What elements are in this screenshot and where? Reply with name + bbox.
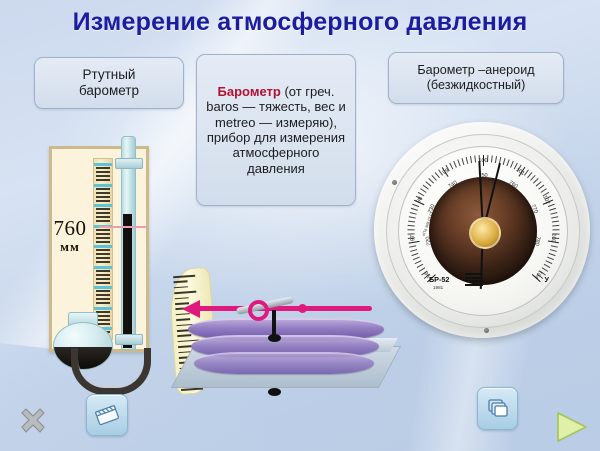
dial-tick	[551, 216, 558, 218]
dial-tick	[545, 260, 552, 264]
arc-scale-tick	[174, 281, 188, 284]
film-clapper-icon	[87, 395, 127, 435]
copy-windows-icon	[478, 388, 517, 429]
u-bend-tube	[71, 348, 151, 395]
scale-tick	[96, 208, 110, 210]
scale-tick	[96, 302, 110, 304]
aneroid-grade-mark: У	[545, 275, 549, 284]
next-slide-button[interactable]	[552, 409, 592, 445]
dial-tick	[410, 249, 417, 252]
aneroid-capsule	[188, 318, 384, 374]
dial-hub	[469, 217, 501, 249]
dial-tick	[457, 159, 460, 166]
dial-tick	[548, 253, 555, 256]
arc-scale-tick	[174, 286, 188, 289]
aneroid-mechanism-diagram	[172, 262, 404, 412]
dial-tick	[414, 260, 421, 264]
page-title: Измерение атмосферного давления	[0, 8, 600, 37]
arc-scale-tick	[173, 275, 195, 278]
dial-tick	[506, 159, 509, 166]
mechanism-pivot-right	[298, 304, 307, 313]
label-mercury-line2: барометр	[79, 83, 139, 99]
scale-tick	[96, 192, 110, 194]
dial-tick	[510, 161, 514, 168]
scale-tick	[96, 278, 110, 280]
scale-tick	[96, 290, 110, 292]
arc-scale-tick	[175, 297, 189, 300]
play-triangle-icon	[552, 409, 592, 445]
scale-tick	[94, 184, 112, 187]
scale-tick	[94, 163, 112, 166]
scale-tick	[94, 266, 112, 269]
scale-tick	[96, 319, 110, 321]
tube-clamp-bottom	[115, 334, 143, 345]
mechanism-knob-lower	[268, 388, 281, 396]
dial-tick	[453, 161, 457, 168]
label-mercury-barometer: Ртутный барометр	[34, 57, 184, 109]
mechanism-lever-arm	[196, 306, 372, 311]
definition-barometer: Барометр (от греч. baros — тяжесть, вес …	[196, 54, 356, 206]
dial-tick	[551, 221, 558, 223]
dial-tick	[543, 264, 550, 268]
scale-tick	[96, 196, 110, 198]
dial-tick	[409, 212, 416, 215]
definition-keyword: Барометр	[218, 84, 281, 99]
dial-tick	[408, 221, 415, 223]
scale-tick	[96, 200, 110, 202]
dial-tick	[411, 253, 418, 256]
dial-tick	[408, 216, 415, 218]
scale-tick	[96, 167, 110, 169]
label-aneroid-line2: (безжидкостный)	[417, 78, 534, 93]
capsule-corrugation	[194, 352, 374, 374]
dial-tick	[465, 157, 468, 164]
scale-tick	[96, 298, 110, 300]
mercury-barometer-illustration: 760 мм	[37, 136, 161, 386]
dial-tick	[407, 225, 414, 227]
scale-tick	[96, 274, 110, 276]
label-mercury-line1: Ртутный	[79, 67, 139, 83]
manufacturer-logo-icon	[465, 273, 483, 285]
scale-tick	[96, 270, 110, 272]
scale-tick	[96, 171, 110, 173]
scale-tick	[94, 204, 112, 207]
scale-tick	[94, 307, 112, 310]
close-icon	[13, 401, 53, 441]
aneroid-barometer-illustration: 96979899100101102103104 7207307407507607…	[374, 122, 590, 338]
scale-tick	[96, 282, 110, 284]
mechanism-pivot-left	[248, 300, 269, 321]
close-button[interactable]	[13, 401, 53, 441]
mercury-reading: 760 мм	[39, 216, 101, 255]
dial-tick	[469, 156, 471, 163]
copy-button[interactable]	[477, 387, 518, 430]
dial-outer-label: 97	[410, 231, 417, 246]
scale-tick	[96, 179, 110, 181]
tube-clamp-top	[115, 158, 143, 169]
scale-tick	[96, 212, 110, 214]
media-button[interactable]	[86, 394, 128, 436]
arc-scale-tick	[181, 388, 203, 391]
scale-tick	[96, 175, 110, 177]
scale-tick	[96, 311, 110, 313]
dial-tick	[490, 155, 492, 162]
dial-tick	[552, 225, 559, 227]
case-screw-bottom	[484, 328, 489, 333]
dial-tick	[412, 257, 419, 261]
aneroid-brand-label: БР-52	[429, 275, 539, 284]
dial-tick	[494, 156, 496, 163]
dial-tick	[409, 245, 416, 247]
aneroid-year-mark: 1981	[433, 285, 443, 290]
scale-tick	[96, 257, 110, 259]
scale-tick	[96, 315, 110, 317]
scale-tick	[96, 261, 110, 263]
dial-tick	[550, 212, 557, 215]
case-screw-left	[392, 180, 397, 185]
label-aneroid-line1: Барометр –анероид	[417, 63, 534, 78]
scale-tick	[96, 188, 110, 190]
mercury-reading-unit: мм	[39, 239, 101, 255]
dial-tick	[550, 245, 557, 247]
dial-tick	[502, 158, 505, 165]
dial-tick	[549, 208, 556, 211]
mechanism-arrow-icon	[182, 300, 200, 318]
reading-indicator-line	[99, 226, 147, 228]
aneroid-dial-face: 96979899100101102103104 7207307407507607…	[398, 146, 568, 316]
slide-canvas: Измерение атмосферного давления Ртутный …	[0, 0, 600, 451]
dial-outer-label: 103	[549, 231, 556, 246]
dial-tick	[547, 257, 554, 261]
arc-scale-tick	[174, 291, 196, 294]
mechanism-knob-upper	[268, 334, 281, 342]
dial-tick	[549, 249, 556, 252]
dial-tick	[416, 264, 423, 268]
label-aneroid-barometer: Барометр –анероид (безжидкостный)	[388, 52, 564, 104]
mercury-reading-value: 760	[39, 216, 101, 241]
mercury-column	[123, 214, 132, 348]
scale-tick	[96, 294, 110, 296]
scale-tick	[94, 286, 112, 289]
aneroid-temp-mark: 20	[552, 285, 557, 290]
dial-tick	[461, 158, 464, 165]
dial-tick	[410, 208, 417, 211]
